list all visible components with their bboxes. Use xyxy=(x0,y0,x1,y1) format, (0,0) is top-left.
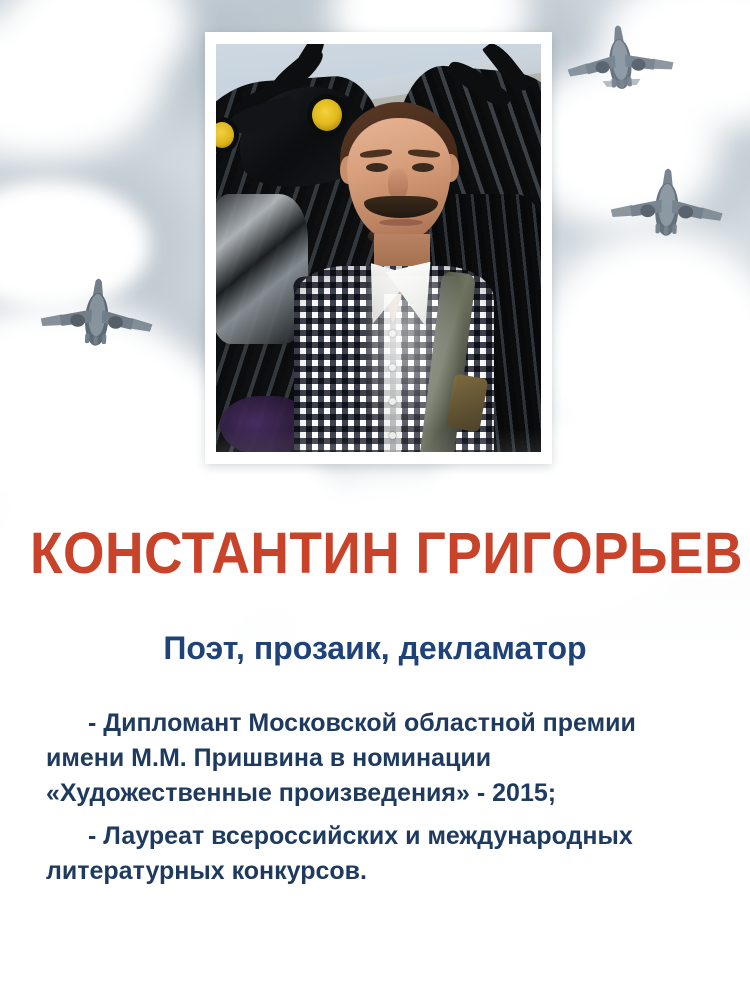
bio-block: - Дипломант Московской областной премии … xyxy=(46,706,706,889)
subtitle-role: Поэт, прозаик, декламатор xyxy=(0,628,750,668)
poster-root: КОНСТАНТИН ГРИГОРЬЕВ Поэт, прозаик, декл… xyxy=(0,0,750,1000)
airplane-middle-right-icon xyxy=(607,163,728,243)
portrait-photo xyxy=(216,44,541,452)
bio-line-2: - Лауреат всероссийских и международных … xyxy=(46,819,706,889)
airplane-top-right-icon xyxy=(563,18,678,97)
bio-line-1: - Дипломант Московской областной премии … xyxy=(46,706,706,811)
page-title: КОНСТАНТИН ГРИГОРЬЕВ xyxy=(30,523,720,585)
airplane-left-icon xyxy=(36,272,158,354)
portrait-photo-frame xyxy=(205,32,552,464)
eagle-eye-icon xyxy=(312,99,342,131)
